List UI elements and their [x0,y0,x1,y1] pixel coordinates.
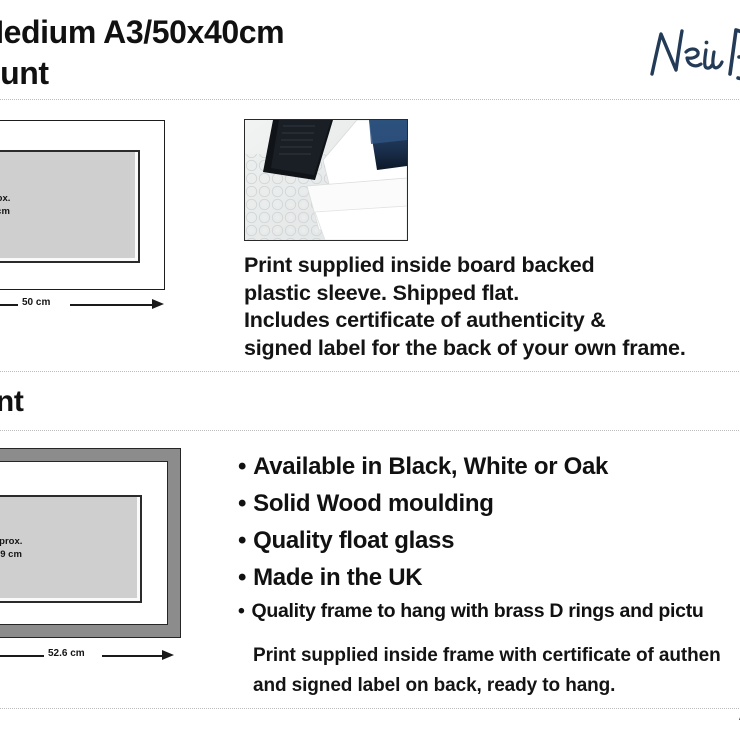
page-title: ONS - Medium A3/50x40cm with mount [0,12,482,94]
bullet-icon: • [238,453,246,480]
list-item-label: Available in Black, White or Oak [253,453,608,480]
frame-width-dimension: 52.6 cm [0,648,188,662]
mount-image-size-line-2: 38.9 x 25.9 cm [0,206,10,217]
packaging-photo [244,119,408,241]
dimension-bar-right [70,304,155,306]
mounted-copy-line-1: Print supplied inside board backed [244,252,686,280]
dimension-arrow-head-icon [162,650,174,660]
frame-feature-list: •Available in Black, White or Oak •Solid… [238,448,704,626]
dimension-bar-left [0,655,44,657]
mounted-copy-line-2: plastic sleeve. Shipped flat. [244,280,686,308]
bullet-icon: • [238,527,246,554]
list-item-label: Quality float glass [253,527,454,554]
bullet-icon: • [238,564,246,591]
frame-image-size-label: Image approx. 38.9 x 25.9 cm [0,535,22,561]
section-heading-framed-print: ed print [0,385,24,419]
mount-image-size-label: Image approx. 38.9 x 25.9 cm [0,192,10,218]
list-item: •Available in Black, White or Oak [238,448,704,485]
frame-image-size-line-1: Image approx. [0,536,22,547]
frame-width-label: 52.6 cm [48,648,85,659]
list-item-label: Quality frame to hang with brass D rings… [252,600,704,622]
mount-width-label: 50 cm [22,297,50,308]
dimension-bar-right [102,655,165,657]
dimension-bar-left [0,304,18,306]
list-item: •Made in the UK [238,559,704,596]
list-item-label: Solid Wood moulding [253,490,493,517]
list-item: •Solid Wood moulding [238,485,704,522]
list-item: •Quality frame to hang with brass D ring… [238,596,704,626]
bullet-icon: • [238,490,246,517]
brand-logo: N [646,22,740,88]
divider-header [0,99,740,100]
mounted-copy-line-4: signed label for the back of your own fr… [244,335,686,363]
page-title-line-1: ONS - Medium A3/50x40cm [0,12,482,53]
divider-section-top [0,371,740,372]
list-item: •Quality float glass [238,522,704,559]
framed-diagram: Image approx. 38.9 x 25.9 cm [0,448,188,640]
mounted-print-copy: Print supplied inside board backed plast… [244,252,686,362]
framed-footer-line-2: and signed label on back, ready to hang. [253,671,721,701]
document-page: ONS - Medium A3/50x40cm with mount N [0,0,740,736]
frame-image-size-line-2: 38.9 x 25.9 cm [0,549,22,560]
bullet-icon: • [238,600,245,622]
mount-diagram: Image approx. 38.9 x 25.9 cm [0,120,170,295]
mount-image-window: Image approx. 38.9 x 25.9 cm [0,150,140,263]
mount-width-dimension: 50 cm [0,297,168,311]
mounted-copy-line-3: Includes certificate of authenticity & [244,307,686,335]
framed-print-footer-copy: Print supplied inside frame with certifi… [253,641,721,701]
framed-footer-line-1: Print supplied inside frame with certifi… [253,641,721,671]
page-title-line-2: with mount [0,53,482,94]
mount-image-size-line-1: Image approx. [0,193,10,204]
page-header: ONS - Medium A3/50x40cm with mount N [0,0,740,99]
list-item-label: Made in the UK [253,564,422,591]
frame-image-window: Image approx. 38.9 x 25.9 cm [0,495,142,603]
divider-footer [0,708,740,709]
divider-section-bottom [0,430,740,431]
dimension-arrow-head-icon [152,299,164,309]
